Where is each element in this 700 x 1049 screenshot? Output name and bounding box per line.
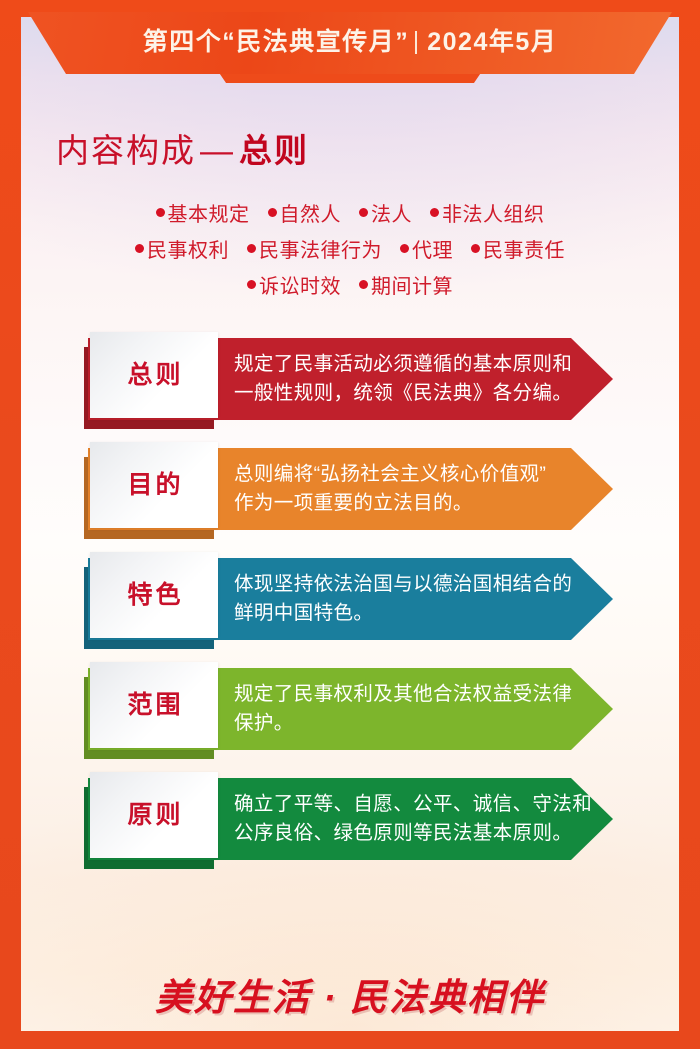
bullet-dot-icon [247, 280, 256, 289]
arrow-description-line: 公序良俗、绿色原则等民法基本原则。 [234, 819, 592, 848]
topic-tag-label: 自然人 [280, 198, 342, 227]
bullet-dot-icon [268, 208, 277, 217]
arrow-description: 规定了民事权利及其他合法权益受法律 保护。 [234, 680, 572, 739]
arrow-row-tese: 体现坚持依法治国与以德治国相结合的 鲜明中国特色。 特色 [0, 558, 700, 640]
arrow-description-line: 一般性规则，统领《民法典》各分编。 [234, 379, 572, 408]
arrow-label-tab: 总则 [90, 332, 218, 418]
topic-tag: 代理 [400, 234, 453, 263]
arrow-label: 范围 [124, 693, 183, 718]
bullet-dot-icon [359, 208, 368, 217]
topic-tag-list: 基本规定 自然人 法人 非法人组织 民事权利 民事法律行为 代理 民事责任 诉讼… [0, 198, 700, 306]
arrow-row-yuanze: 确立了平等、自愿、公平、诚信、守法和 公序良俗、绿色原则等民法基本原则。 原则 [0, 778, 700, 860]
page-title-dash: — [200, 132, 235, 169]
topic-tag-label: 法人 [371, 198, 412, 227]
topic-tag-row: 诉讼时效 期间计算 [0, 270, 700, 299]
bullet-dot-icon [135, 244, 144, 253]
topic-tag-label: 基本规定 [168, 198, 250, 227]
arrow-label-tab: 范围 [90, 662, 218, 748]
topic-tag-label: 民事法律行为 [259, 234, 382, 263]
header-title-main: 第四个“民法典宣传月” [143, 28, 410, 56]
page-title: 内容构成—总则 [56, 124, 309, 172]
topic-tag-label: 民事权利 [147, 234, 229, 263]
topic-tag: 民事权利 [135, 234, 229, 263]
arrow-description: 总则编将“弘扬社会主义核心价值观” 作为一项重要的立法目的。 [234, 460, 546, 519]
topic-tag: 法人 [359, 198, 412, 227]
footer-slogan-text: 美好生活 · 民法典相伴 [155, 967, 545, 1021]
header-date: 2024年5月 [427, 28, 557, 56]
arrow-label-tab: 特色 [90, 552, 218, 638]
bullet-dot-icon [430, 208, 439, 217]
page-title-prefix: 内容构成 [56, 132, 196, 169]
topic-tag: 自然人 [268, 198, 342, 227]
header-separator-icon [415, 31, 417, 54]
arrow-description-line: 作为一项重要的立法目的。 [234, 489, 546, 518]
bullet-dot-icon [156, 208, 165, 217]
topic-tag-label: 民事责任 [483, 234, 565, 263]
bullet-dot-icon [471, 244, 480, 253]
topic-tag: 民事责任 [471, 234, 565, 263]
arrow-row-mudi: 总则编将“弘扬社会主义核心价值观” 作为一项重要的立法目的。 目的 [0, 448, 700, 530]
arrow-description-line: 规定了民事权利及其他合法权益受法律 [234, 680, 572, 709]
arrow-description-line: 体现坚持依法治国与以德治国相结合的 [234, 570, 572, 599]
bullet-dot-icon [359, 280, 368, 289]
header-title: 第四个“民法典宣传月”2024年5月 [143, 30, 558, 55]
arrow-description: 确立了平等、自愿、公平、诚信、守法和 公序良俗、绿色原则等民法基本原则。 [234, 790, 592, 849]
topic-tag-label: 期间计算 [371, 270, 453, 299]
arrow-description-line: 规定了民事活动必须遵循的基本原则和 [234, 350, 572, 379]
topic-tag-label: 代理 [412, 234, 453, 263]
arrow-label-tab: 原则 [90, 772, 218, 858]
arrow-label: 特色 [124, 583, 183, 608]
topic-tag-label: 非法人组织 [442, 198, 545, 227]
arrow-label-tab: 目的 [90, 442, 218, 528]
topic-tag: 诉讼时效 [247, 270, 341, 299]
bullet-dot-icon [400, 244, 409, 253]
poster-root: 第四个“民法典宣传月”2024年5月 内容构成—总则 基本规定 自然人 法人 非… [0, 0, 700, 1049]
bullet-dot-icon [247, 244, 256, 253]
topic-tag: 非法人组织 [430, 198, 545, 227]
arrow-label: 总则 [124, 363, 183, 388]
arrow-list: 规定了民事活动必须遵循的基本原则和 一般性规则，统领《民法典》各分编。 总则 总… [0, 338, 700, 888]
arrow-label: 原则 [124, 803, 183, 828]
arrow-label: 目的 [124, 473, 183, 498]
arrow-description-line: 保护。 [234, 709, 572, 738]
topic-tag-row: 基本规定 自然人 法人 非法人组织 [0, 198, 700, 227]
topic-tag: 期间计算 [359, 270, 453, 299]
topic-tag-row: 民事权利 民事法律行为 代理 民事责任 [0, 234, 700, 263]
arrow-row-fanwei: 规定了民事权利及其他合法权益受法律 保护。 范围 [0, 668, 700, 750]
page-title-highlight: 总则 [239, 132, 309, 169]
arrow-description-line: 总则编将“弘扬社会主义核心价值观” [234, 460, 546, 489]
topic-tag: 基本规定 [156, 198, 250, 227]
footer-slogan: 美好生活 · 民法典相伴 [0, 967, 700, 1021]
arrow-description-line: 确立了平等、自愿、公平、诚信、守法和 [234, 790, 592, 819]
header-banner: 第四个“民法典宣传月”2024年5月 [28, 12, 672, 74]
topic-tag-label: 诉讼时效 [259, 270, 341, 299]
arrow-row-zongze: 规定了民事活动必须遵循的基本原则和 一般性规则，统领《民法典》各分编。 总则 [0, 338, 700, 420]
arrow-description: 规定了民事活动必须遵循的基本原则和 一般性规则，统领《民法典》各分编。 [234, 350, 572, 409]
arrow-description: 体现坚持依法治国与以德治国相结合的 鲜明中国特色。 [234, 570, 572, 629]
arrow-description-line: 鲜明中国特色。 [234, 599, 572, 628]
topic-tag: 民事法律行为 [247, 234, 382, 263]
